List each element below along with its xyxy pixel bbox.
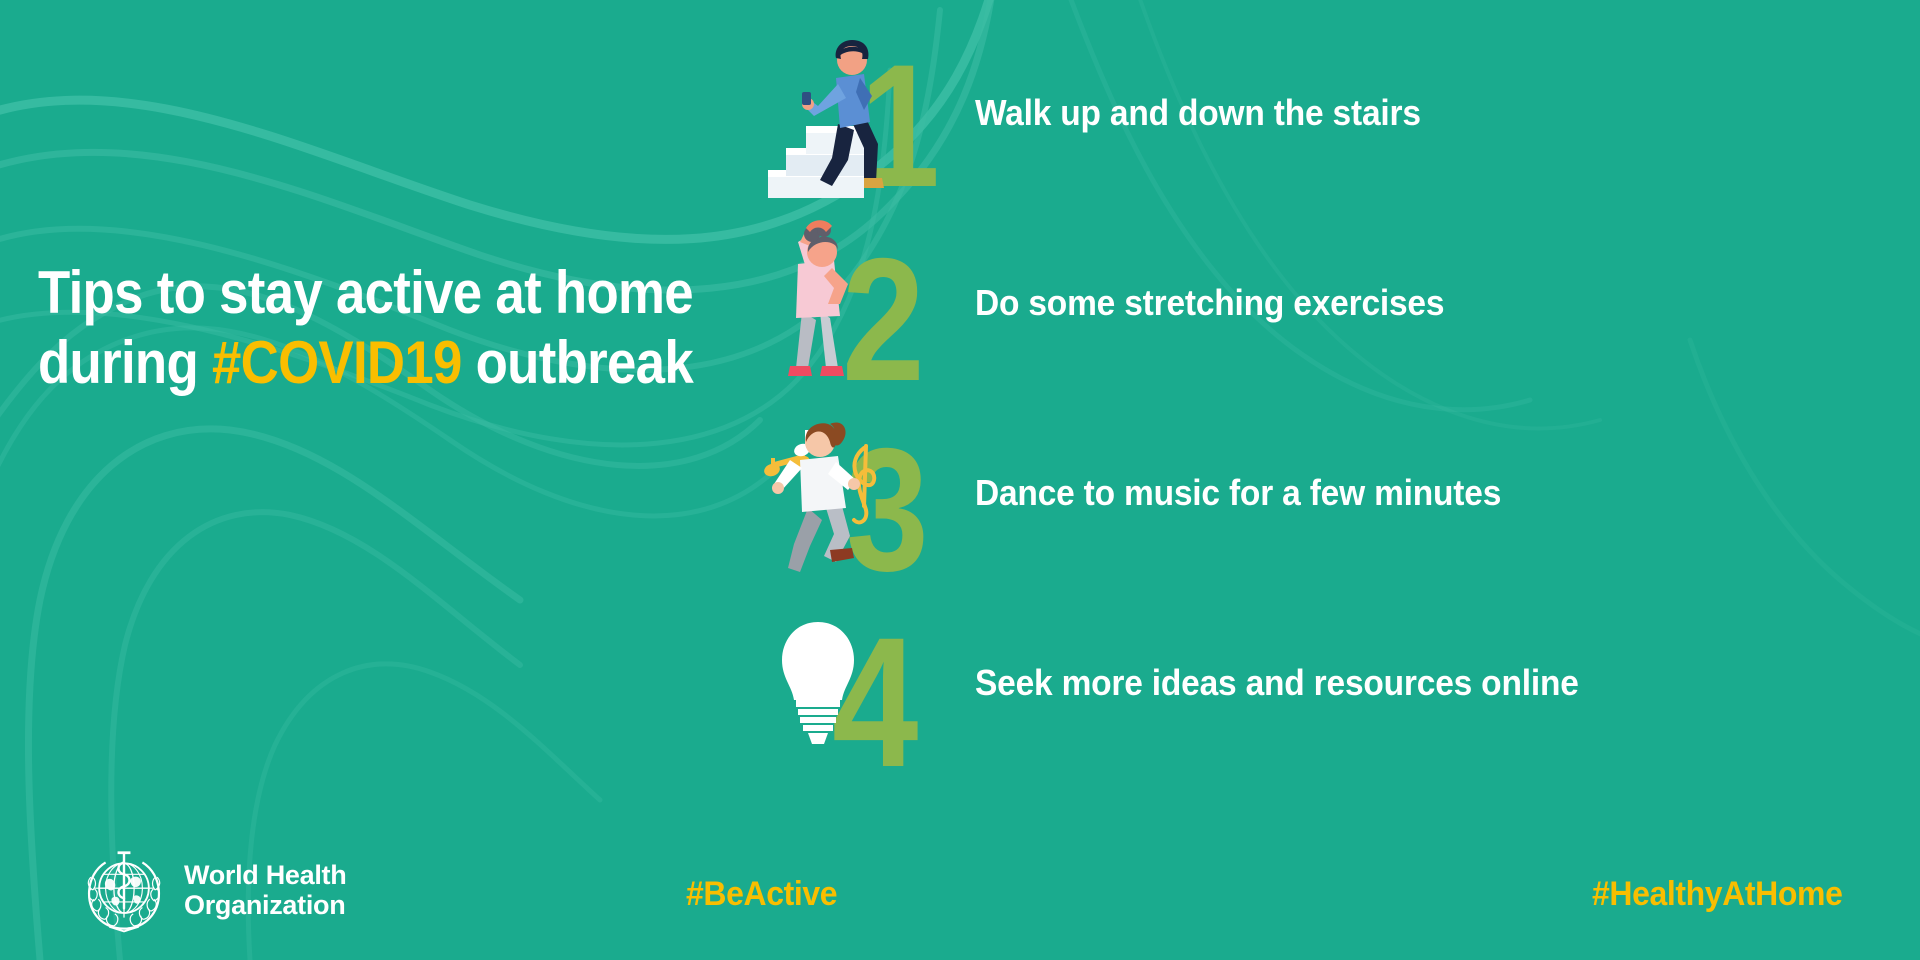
tip-4-visual: 4: [760, 588, 965, 778]
headline: Tips to stay active at home during #COVI…: [38, 258, 758, 397]
hashtag-healthyathome: #HealthyAtHome: [1592, 875, 1842, 914]
footer: World Health Organization #BeActive #Hea…: [0, 830, 1920, 960]
tip-item-3: 3: [760, 398, 1920, 588]
who-wordmark: World Health Organization: [184, 860, 346, 920]
tip-item-2: 2: [760, 208, 1920, 398]
who-wordmark-line-1: World Health: [184, 860, 346, 890]
headline-line-2: during #COVID19 outbreak: [38, 328, 672, 398]
tip-4-label: Seek more ideas and resources online: [975, 662, 1579, 704]
tip-2-visual: 2: [760, 208, 965, 398]
tip-item-4: 4 Seek more ideas and resources online: [760, 588, 1920, 778]
who-emblem-icon: [78, 844, 170, 936]
tip-3-visual: 3: [760, 398, 965, 588]
headline-line-2-prefix: during: [38, 329, 212, 396]
tip-item-1: 1: [760, 18, 1920, 208]
tip-3-numeral: 3: [846, 413, 929, 588]
headline-line-2-suffix: outbreak: [462, 329, 693, 396]
hashtag-beactive: #BeActive: [686, 875, 837, 914]
tip-1-visual: 1: [760, 18, 965, 208]
who-logo: World Health Organization: [78, 844, 346, 936]
tips-list: 1: [760, 18, 1920, 778]
tip-2-label: Do some stretching exercises: [975, 282, 1444, 324]
headline-line-1: Tips to stay active at home: [38, 258, 672, 328]
tip-3-label: Dance to music for a few minutes: [975, 472, 1501, 514]
tip-1-label: Walk up and down the stairs: [975, 92, 1421, 134]
who-wordmark-line-2: Organization: [184, 890, 346, 920]
person-stretching-icon: [788, 220, 848, 376]
tip-2-numeral: 2: [842, 223, 925, 398]
headline-covid-hashtag: #COVID19: [212, 329, 462, 396]
